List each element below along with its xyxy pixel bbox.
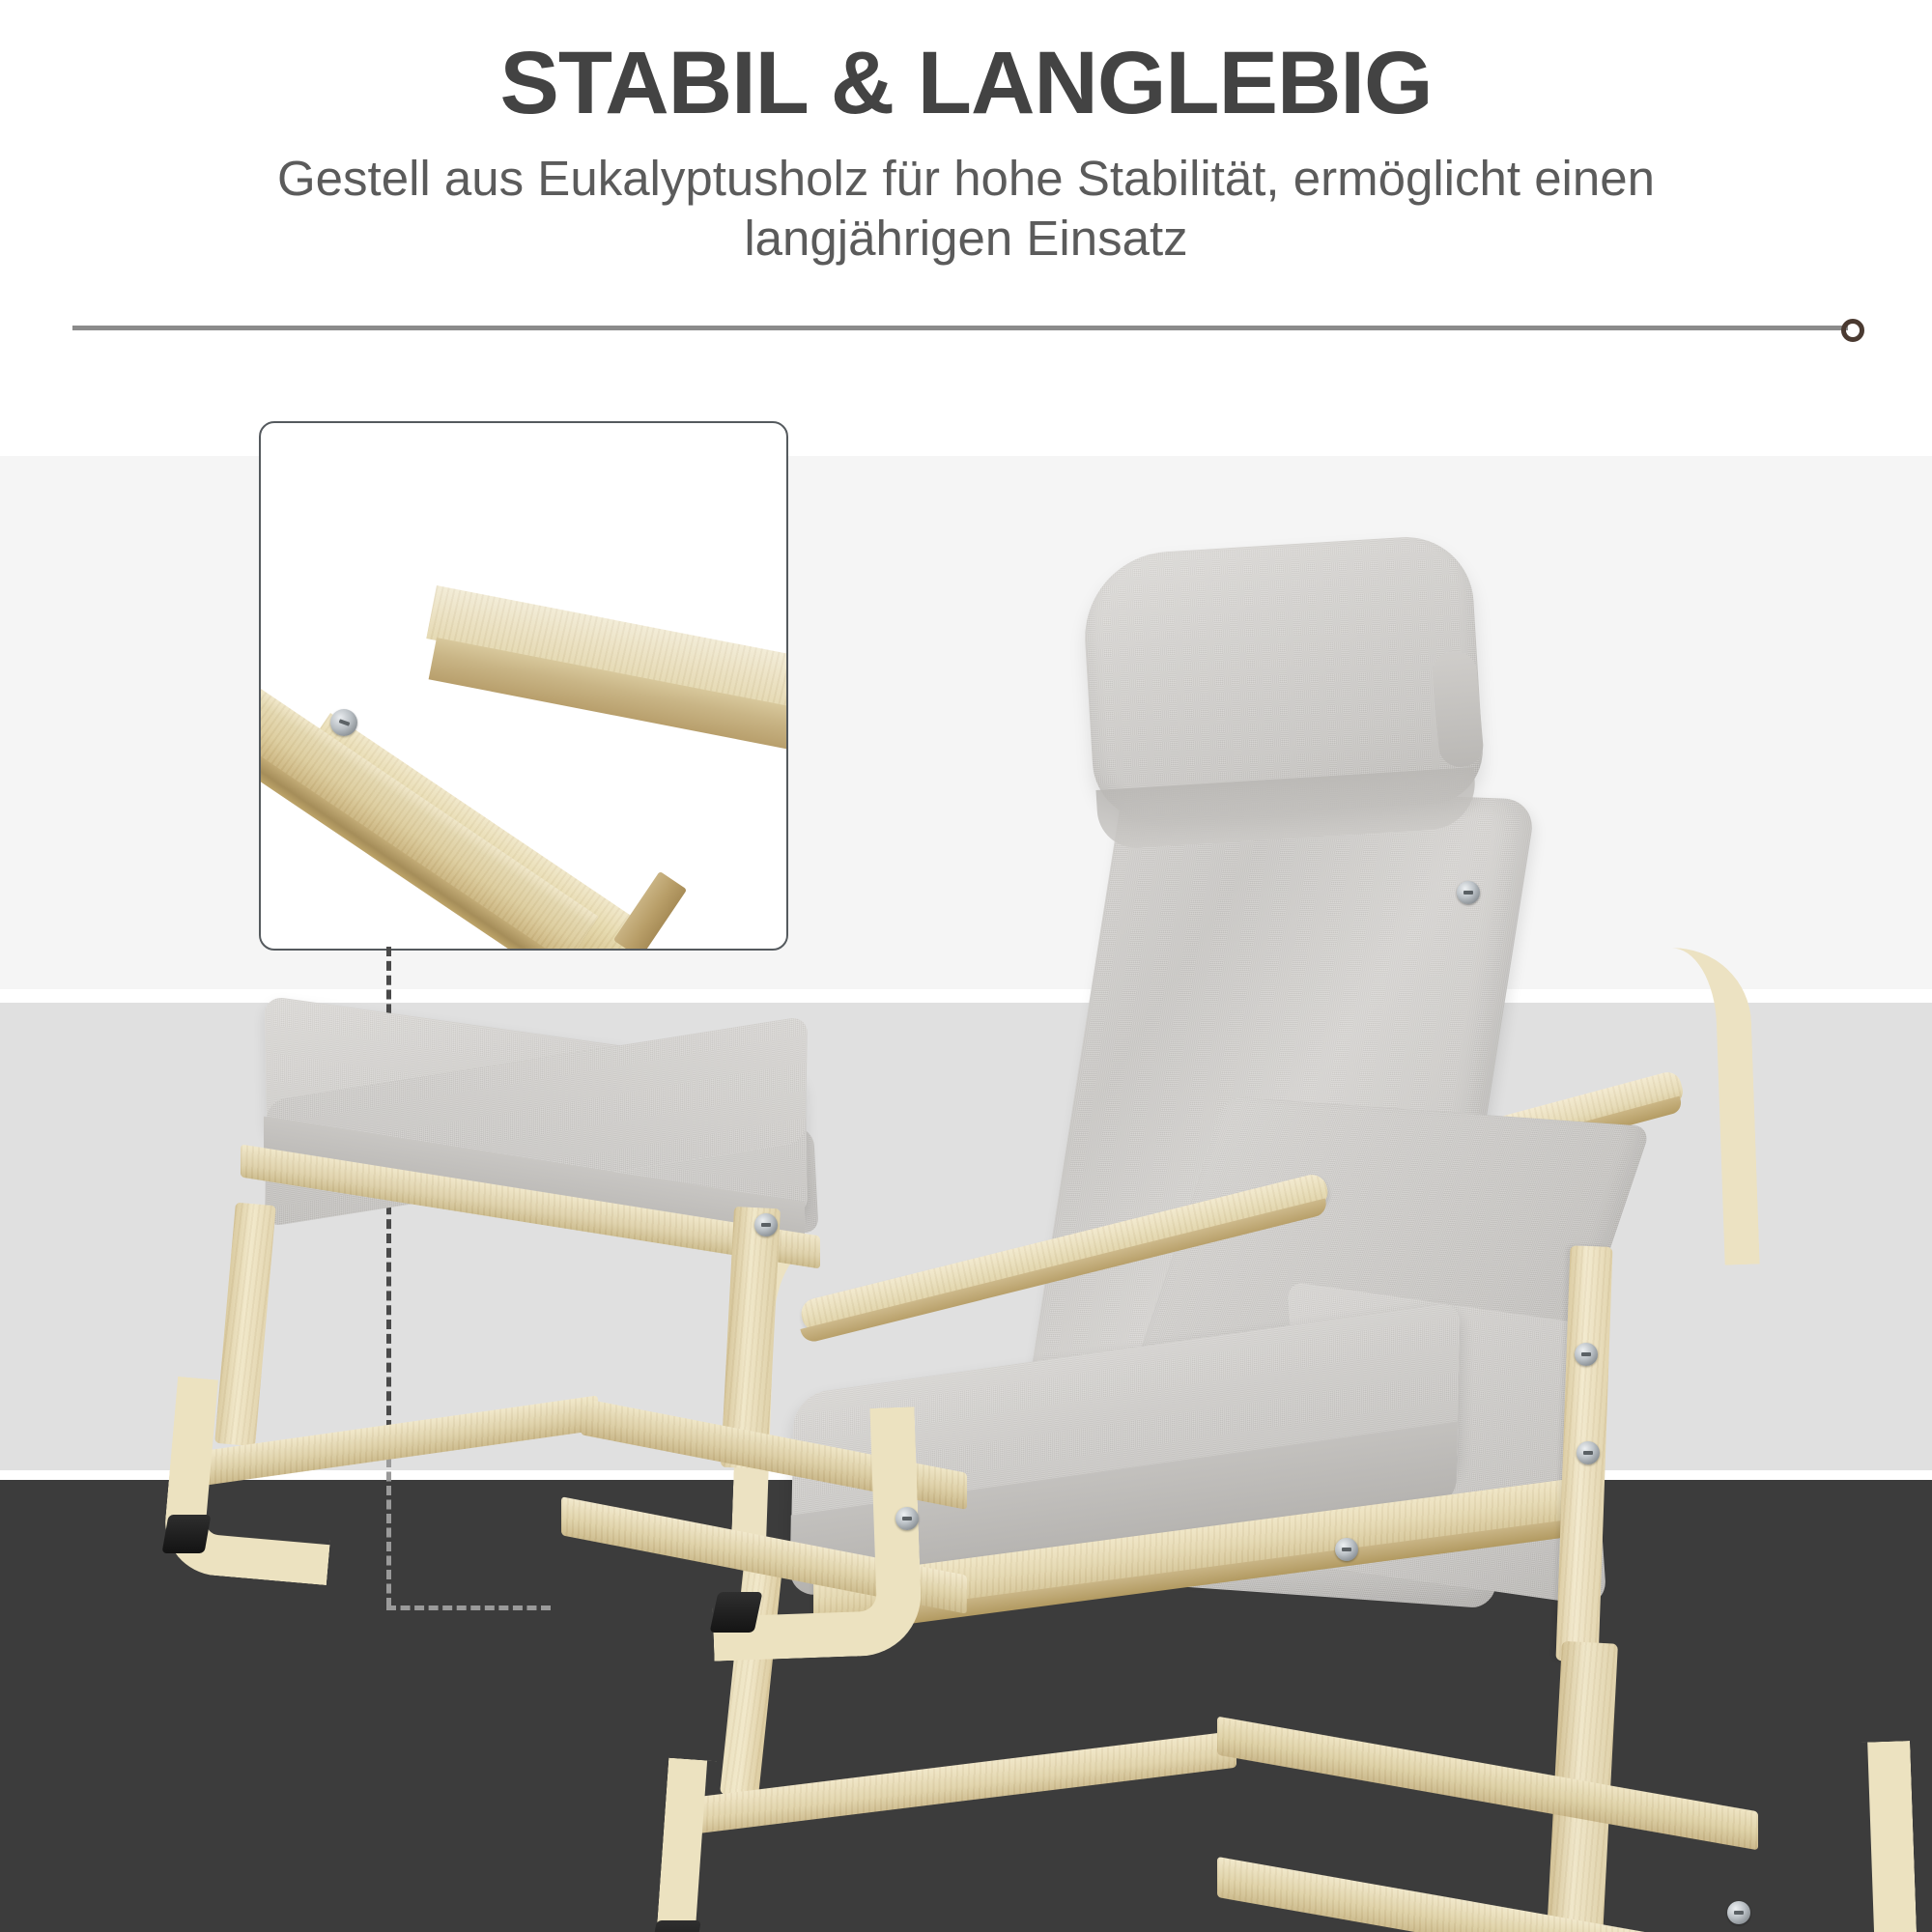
marketing-banner: STABIL & LANGLEBIG Gestell aus Eukalyptu…: [0, 0, 1932, 1932]
screw-icon: [1457, 881, 1480, 904]
header: STABIL & LANGLEBIG Gestell aus Eukalyptu…: [0, 0, 1932, 269]
chair-base-rail-right: [1217, 1717, 1758, 1851]
screw-icon: [1335, 1538, 1358, 1561]
footstool-foot-cap-left: [161, 1515, 211, 1553]
footstool-base-curve-left: [161, 1377, 344, 1585]
product-footstool: [208, 1024, 913, 1864]
screw-icon: [754, 1213, 778, 1236]
screw-icon: [1575, 1343, 1598, 1366]
divider-endpoint-circle-icon: [1841, 319, 1864, 342]
footstool-foot-cap-right: [710, 1592, 763, 1633]
screw-icon: [1727, 1901, 1750, 1924]
detail-inset-card: [259, 421, 788, 951]
screw-icon: [895, 1507, 919, 1530]
screw-icon: [330, 709, 357, 736]
screw-icon: [1577, 1441, 1600, 1464]
divider: [0, 319, 1932, 344]
page-title: STABIL & LANGLEBIG: [0, 0, 1932, 128]
chair-base-curve-right: [1684, 1741, 1918, 1932]
page-subtitle: Gestell aus Eukalyptusholz für hohe Stab…: [145, 149, 1787, 269]
wood-joint-closeup-image: [261, 423, 786, 949]
divider-line: [72, 326, 1848, 330]
product-armchair: [898, 570, 1922, 1913]
chair-foot-cap-left: [649, 1920, 701, 1932]
wood-beam-cut-end: [613, 871, 687, 949]
